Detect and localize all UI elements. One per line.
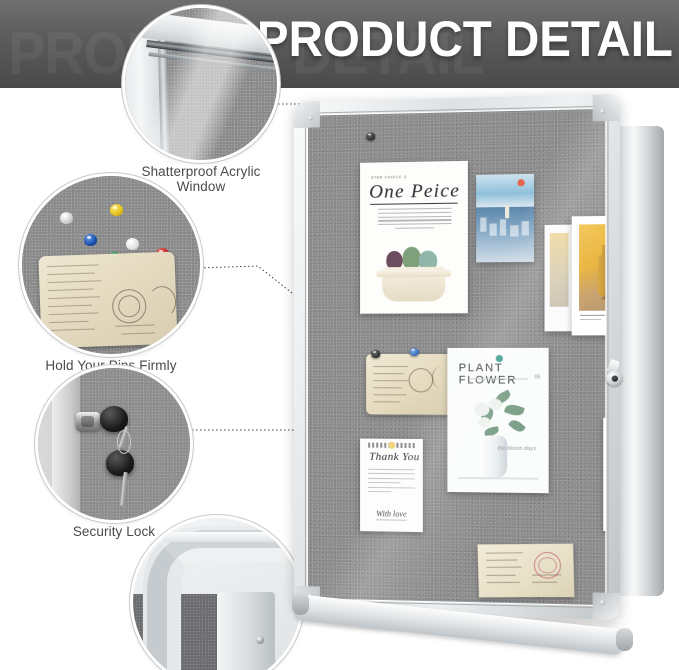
push-pin-postcard-blue (410, 348, 419, 356)
notice-board-product: STAR CHOICE 3 One Peice (286, 96, 676, 644)
product-detail-image: PRODUCT DETAIL PRODUCT DETAIL (0, 0, 679, 670)
push-pin-postcard-dark (371, 350, 380, 358)
push-pin-white (60, 212, 73, 224)
callout-frame-corners: Aluminium Frame ABS Corners (133, 518, 301, 670)
push-pin-blue (84, 234, 97, 246)
page-title: PRODUCT DETAIL (257, 14, 673, 64)
antique-letter (38, 252, 177, 349)
abs-corner-top-left (294, 101, 320, 128)
push-pin-white-2 (126, 238, 139, 250)
frame-inner-bevel (305, 106, 609, 609)
push-pin-poster1 (366, 132, 375, 140)
abs-corner-bottom-right (593, 593, 620, 620)
push-pin-yellow (110, 204, 123, 216)
bottom-rail-cap-right (616, 628, 633, 651)
callout-acrylic-window: Shatterproof Acrylic Window (125, 8, 277, 160)
frame-vertical-rail (217, 592, 275, 670)
callout-security-lock: Security Lock (38, 368, 190, 520)
corner-screw (256, 636, 264, 644)
callout-security-lock-photo (38, 368, 190, 520)
postmark-2 (148, 286, 177, 319)
door-lock[interactable] (606, 370, 622, 385)
acrylic-reflection (133, 8, 259, 160)
callout-frame-corners-photo (133, 518, 301, 670)
key-head-lower (106, 450, 134, 476)
bottom-rail-cap-left (292, 592, 309, 615)
abs-corner-top-right (593, 94, 620, 121)
frame-top-rail (163, 532, 293, 542)
callout-acrylic-window-photo (125, 8, 277, 160)
felt-surface (79, 368, 190, 520)
display-case-door: STAR CHOICE 3 One Peice (294, 94, 620, 620)
lock-cylinder (76, 412, 100, 431)
frame-rail (52, 368, 80, 520)
callout-pins-photo (22, 176, 200, 354)
key-ring (117, 430, 131, 454)
header-banner: PRODUCT DETAIL PRODUCT DETAIL (0, 0, 679, 88)
callout-pins: Hold Your Pins Firmly (22, 176, 200, 354)
